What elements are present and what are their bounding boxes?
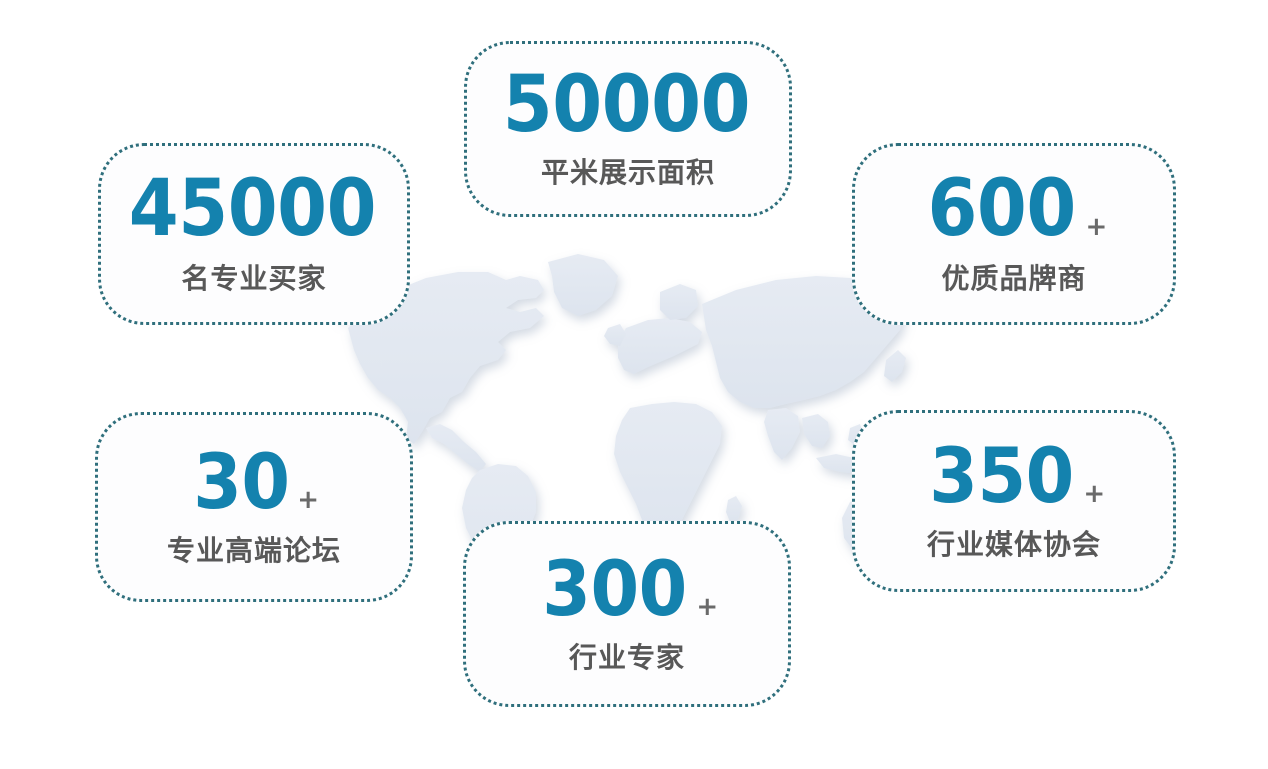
stat-number-experts: 300 [543,552,688,626]
stat-suffix-media: + [1083,482,1104,507]
stat-number-area: 50000 [503,67,750,143]
stat-label-forums: 专业高端论坛 [167,529,341,569]
stat-suffix-forums: + [297,488,318,513]
stat-value-buyers: 45000 [118,171,390,247]
stat-label-buyers: 名专业买家 [181,257,326,297]
stat-label-area: 平米展示面积 [541,151,715,191]
stat-suffix-experts: + [696,595,717,620]
stat-label-experts: 行业专家 [569,636,685,676]
stat-value-brands: 600+ [921,171,1107,247]
stat-value-area: 50000 [492,67,764,143]
stat-card-area: 50000 平米展示面积 [464,41,792,217]
stat-value-media: 350+ [923,439,1104,513]
stat-label-media: 行业媒体协会 [927,523,1101,563]
stat-card-brands: 600+ 优质品牌商 [852,143,1176,325]
stat-card-experts: 300+ 行业专家 [463,521,791,707]
stat-number-media: 350 [930,439,1075,513]
stat-number-forums: 30 [194,445,290,519]
stat-card-forums: 30+ 专业高端论坛 [95,412,413,602]
stat-suffix-brands: + [1086,215,1107,240]
stat-card-buyers: 45000 名专业买家 [98,143,410,325]
stat-number-brands: 600 [928,171,1076,247]
stat-label-brands: 优质品牌商 [941,257,1086,297]
stat-value-forums: 30+ [189,445,318,519]
stat-card-media: 350+ 行业媒体协会 [852,410,1176,592]
stat-value-experts: 300+ [536,552,717,626]
stat-number-buyers: 45000 [129,171,376,247]
infographic-canvas: 45000 名专业买家 50000 平米展示面积 600+ 优质品牌商 30+ … [0,0,1268,769]
